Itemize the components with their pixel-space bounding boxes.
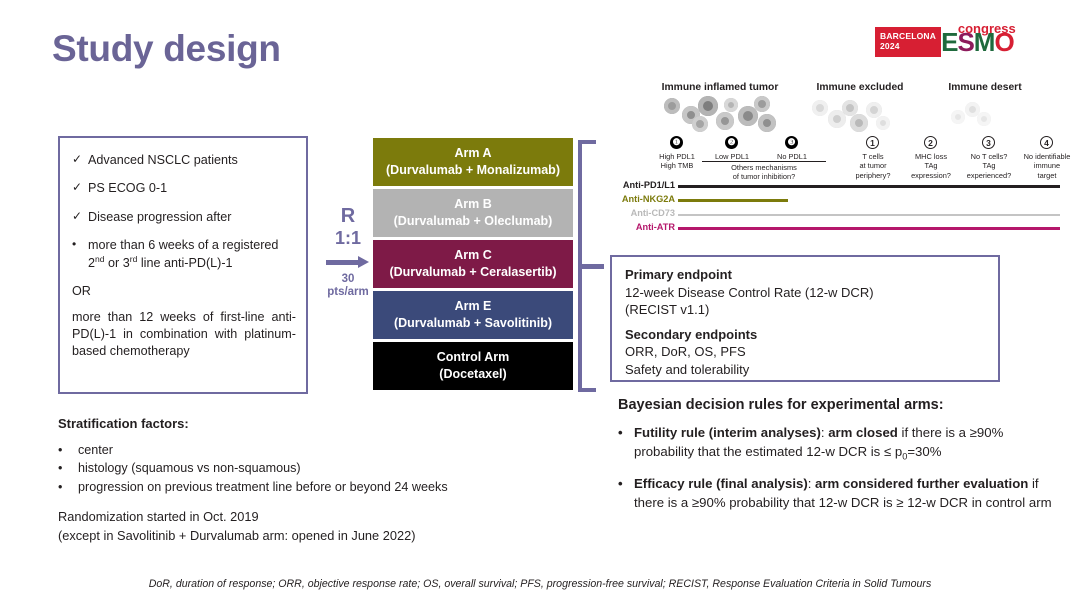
arms-to-endpoints-bracket: [578, 140, 600, 392]
cell-cluster-excluded: [810, 98, 900, 134]
stratification-section: Stratification factors: • center • histo…: [58, 416, 488, 496]
logo-congress-text: congress: [958, 21, 1016, 36]
page-title: Study design: [52, 28, 281, 70]
drug-line-bar-anti-nkg2a: [678, 199, 788, 202]
check-icon: ✓: [72, 152, 88, 168]
stratification-item: • progression on previous treatment line…: [58, 478, 488, 496]
eligibility-item: ✓ PS ECOG 0-1: [72, 180, 296, 196]
arm-control-name: Control Arm: [437, 349, 509, 366]
stratification-item: • center: [58, 441, 488, 459]
futility-rule-text: Futility rule (interim analyses): arm cl…: [634, 424, 1058, 464]
patients-per-arm: 30 pts/arm: [322, 273, 374, 299]
treatment-arms-group: Arm A (Durvalumab + Monalizumab) Arm B (…: [373, 138, 573, 393]
randomization-start-line2: (except in Savolitinib + Durvalumab arm:…: [58, 528, 415, 543]
arm-e-name: Arm E: [455, 298, 492, 315]
phenotype-title-inflamed: Immune inflamed tumor: [640, 82, 800, 93]
marker-desert-1: 1: [866, 136, 879, 149]
eligibility-item-label: PS ECOG 0-1: [88, 180, 296, 196]
arm-c-treatment: (Durvalumab + Ceralasertib): [389, 264, 556, 281]
eligibility-or-separator: OR: [72, 283, 296, 300]
arm-box-control: Control Arm (Docetaxel): [373, 342, 573, 390]
primary-endpoint-line2: (RECIST v1.1): [625, 301, 998, 319]
bullet-icon: •: [58, 459, 78, 477]
arm-c-name: Arm C: [454, 247, 492, 264]
patients-count: 30: [342, 273, 355, 285]
bullet-icon: •: [618, 475, 634, 513]
marker-desert-2-caption: MHC lossTAgexpression?: [900, 152, 962, 180]
marker-desert-4-caption: No identifiableimmunetarget: [1013, 152, 1080, 180]
bayesian-heading: Bayesian decision rules for experimental…: [618, 397, 1058, 413]
marker-inflamed-3: ❸: [785, 136, 798, 149]
stratification-item: • histology (squamous vs non-squamous): [58, 459, 488, 477]
patients-unit: pts/arm: [327, 286, 369, 298]
drug-line-bar-anti-pd1: [678, 185, 1060, 188]
bullet-icon: •: [618, 424, 634, 464]
marker-desert-3: 3: [982, 136, 995, 149]
eligibility-item: ✓ Advanced NSCLC patients: [72, 152, 296, 168]
efficacy-rule-text: Efficacy rule (final analysis): arm cons…: [634, 475, 1058, 513]
marker-desert-4: 4: [1040, 136, 1053, 149]
phenotype-title-excluded: Immune excluded: [790, 82, 930, 93]
check-icon: ✓: [72, 180, 88, 196]
arm-box-c: Arm C (Durvalumab + Ceralasertib): [373, 240, 573, 288]
secondary-endpoints-heading: Secondary endpoints: [625, 326, 998, 344]
stratification-item-label: center: [78, 441, 113, 459]
endpoints-box: Primary endpoint 12-week Disease Control…: [610, 255, 1000, 382]
futility-rule-item: • Futility rule (interim analyses): arm …: [618, 424, 1058, 464]
arm-b-treatment: (Durvalumab + Oleclumab): [394, 213, 553, 230]
arm-e-treatment: (Durvalumab + Savolitinib): [394, 315, 552, 332]
phenotype-title-desert: Immune desert: [915, 82, 1055, 93]
eligibility-criteria-box: ✓ Advanced NSCLC patients ✓ PS ECOG 0-1 …: [58, 136, 308, 394]
randomization-start-note: Randomization started in Oct. 2019 (exce…: [58, 508, 415, 545]
bullet-icon: •: [58, 441, 78, 459]
primary-endpoint-heading: Primary endpoint: [625, 266, 998, 284]
primary-endpoint-line1: 12-week Disease Control Rate (12-w DCR): [625, 284, 998, 302]
drug-label-anti-cd73: Anti-CD73: [631, 208, 675, 218]
randomization-letter: R: [322, 205, 374, 227]
esmo-congress-logo: BARCELONA 2024 E S M O congress: [875, 27, 1014, 57]
stratification-item-label: histology (squamous vs non-squamous): [78, 459, 301, 477]
immune-phenotype-diagram: Immune inflamed tumor Immune excluded Im…: [630, 82, 1060, 182]
arm-box-b: Arm B (Durvalumab + Oleclumab): [373, 189, 573, 237]
arm-control-treatment: (Docetaxel): [439, 366, 506, 383]
stratification-heading: Stratification factors:: [58, 416, 488, 431]
logo-letter-e: E: [941, 29, 957, 55]
slide-root: Study design BARCELONA 2024 E S M O cong…: [0, 0, 1080, 608]
check-icon: ✓: [72, 209, 88, 225]
eligibility-item: ✓ Disease progression after: [72, 209, 296, 225]
bullet-icon: •: [72, 237, 88, 271]
inflamed-shared-caption: Others mechanismsof tumor inhibition?: [702, 163, 826, 182]
cell-cluster-desert: [945, 100, 1005, 130]
marker-inflamed-1: ❶: [670, 136, 683, 149]
secondary-endpoints-line1: ORR, DoR, OS, PFS: [625, 343, 998, 361]
drug-coverage-lines: Anti-PD1/L1 Anti-NKG2A Anti-CD73 Anti-AT…: [600, 180, 1060, 238]
logo-year: 2024: [880, 42, 936, 52]
arm-box-a: Arm A (Durvalumab + Monalizumab): [373, 138, 573, 186]
drug-line-bar-anti-cd73: [678, 214, 1060, 216]
secondary-endpoints-line2: Safety and tolerability: [625, 361, 998, 379]
logo-barcelona-block: BARCELONA 2024: [875, 27, 941, 57]
randomization-start-line1: Randomization started in Oct. 2019: [58, 509, 259, 524]
efficacy-rule-item: • Efficacy rule (final analysis): arm co…: [618, 475, 1058, 513]
drug-line-bar-anti-atr: [678, 227, 1060, 230]
marker-desert-3-caption: No T cells?TAgexperienced?: [958, 152, 1020, 180]
eligibility-subitem-label: more than 6 weeks of a registered 2nd or…: [88, 237, 296, 271]
arm-a-treatment: (Durvalumab + Monalizumab): [386, 162, 560, 179]
drug-label-anti-nkg2a: Anti-NKG2A: [622, 194, 675, 204]
prior-therapy-line2: 2nd or 3rd line anti-PD(L)-1: [88, 256, 233, 270]
arm-box-e: Arm E (Durvalumab + Savolitinib): [373, 291, 573, 339]
arm-a-name: Arm A: [454, 145, 491, 162]
marker-inflamed-3-caption: No PDL1: [758, 152, 826, 161]
marker-desert-1-caption: T cellsat tumorperiphery?: [842, 152, 904, 180]
arrow-right-icon: [322, 256, 374, 268]
bullet-icon: •: [58, 478, 78, 496]
shared-caption-underline: [702, 161, 826, 162]
randomization-group: R 1:1 30 pts/arm: [322, 205, 374, 299]
eligibility-paragraph: more than 12 weeks of first-line anti-PD…: [72, 309, 296, 360]
eligibility-subitem: • more than 6 weeks of a registered 2nd …: [72, 237, 296, 271]
marker-inflamed-2: ❷: [725, 136, 738, 149]
abbreviations-footnote: DoR, duration of response; ORR, objectiv…: [0, 578, 1080, 590]
eligibility-item-label: Disease progression after: [88, 209, 296, 225]
drug-line-anti-pd1: Anti-PD1/L1: [600, 180, 1060, 193]
randomization-ratio: 1:1: [322, 228, 374, 250]
bayesian-rules-section: Bayesian decision rules for experimental…: [618, 397, 1058, 523]
drug-line-anti-cd73: Anti-CD73: [600, 208, 1060, 221]
drug-label-anti-atr: Anti-ATR: [636, 222, 675, 232]
stratification-item-label: progression on previous treatment line b…: [78, 478, 448, 496]
marker-desert-2: 2: [924, 136, 937, 149]
drug-line-anti-nkg2a: Anti-NKG2A: [600, 194, 1060, 207]
prior-therapy-line1: more than 6 weeks of a registered: [88, 238, 278, 252]
arm-b-name: Arm B: [454, 196, 492, 213]
cell-cluster-inflamed: [662, 96, 782, 134]
drug-label-anti-pd1: Anti-PD1/L1: [623, 180, 675, 190]
drug-line-anti-atr: Anti-ATR: [600, 222, 1060, 235]
marker-inflamed-2-caption: Low PDL1: [698, 152, 766, 161]
eligibility-item-label: Advanced NSCLC patients: [88, 152, 296, 168]
